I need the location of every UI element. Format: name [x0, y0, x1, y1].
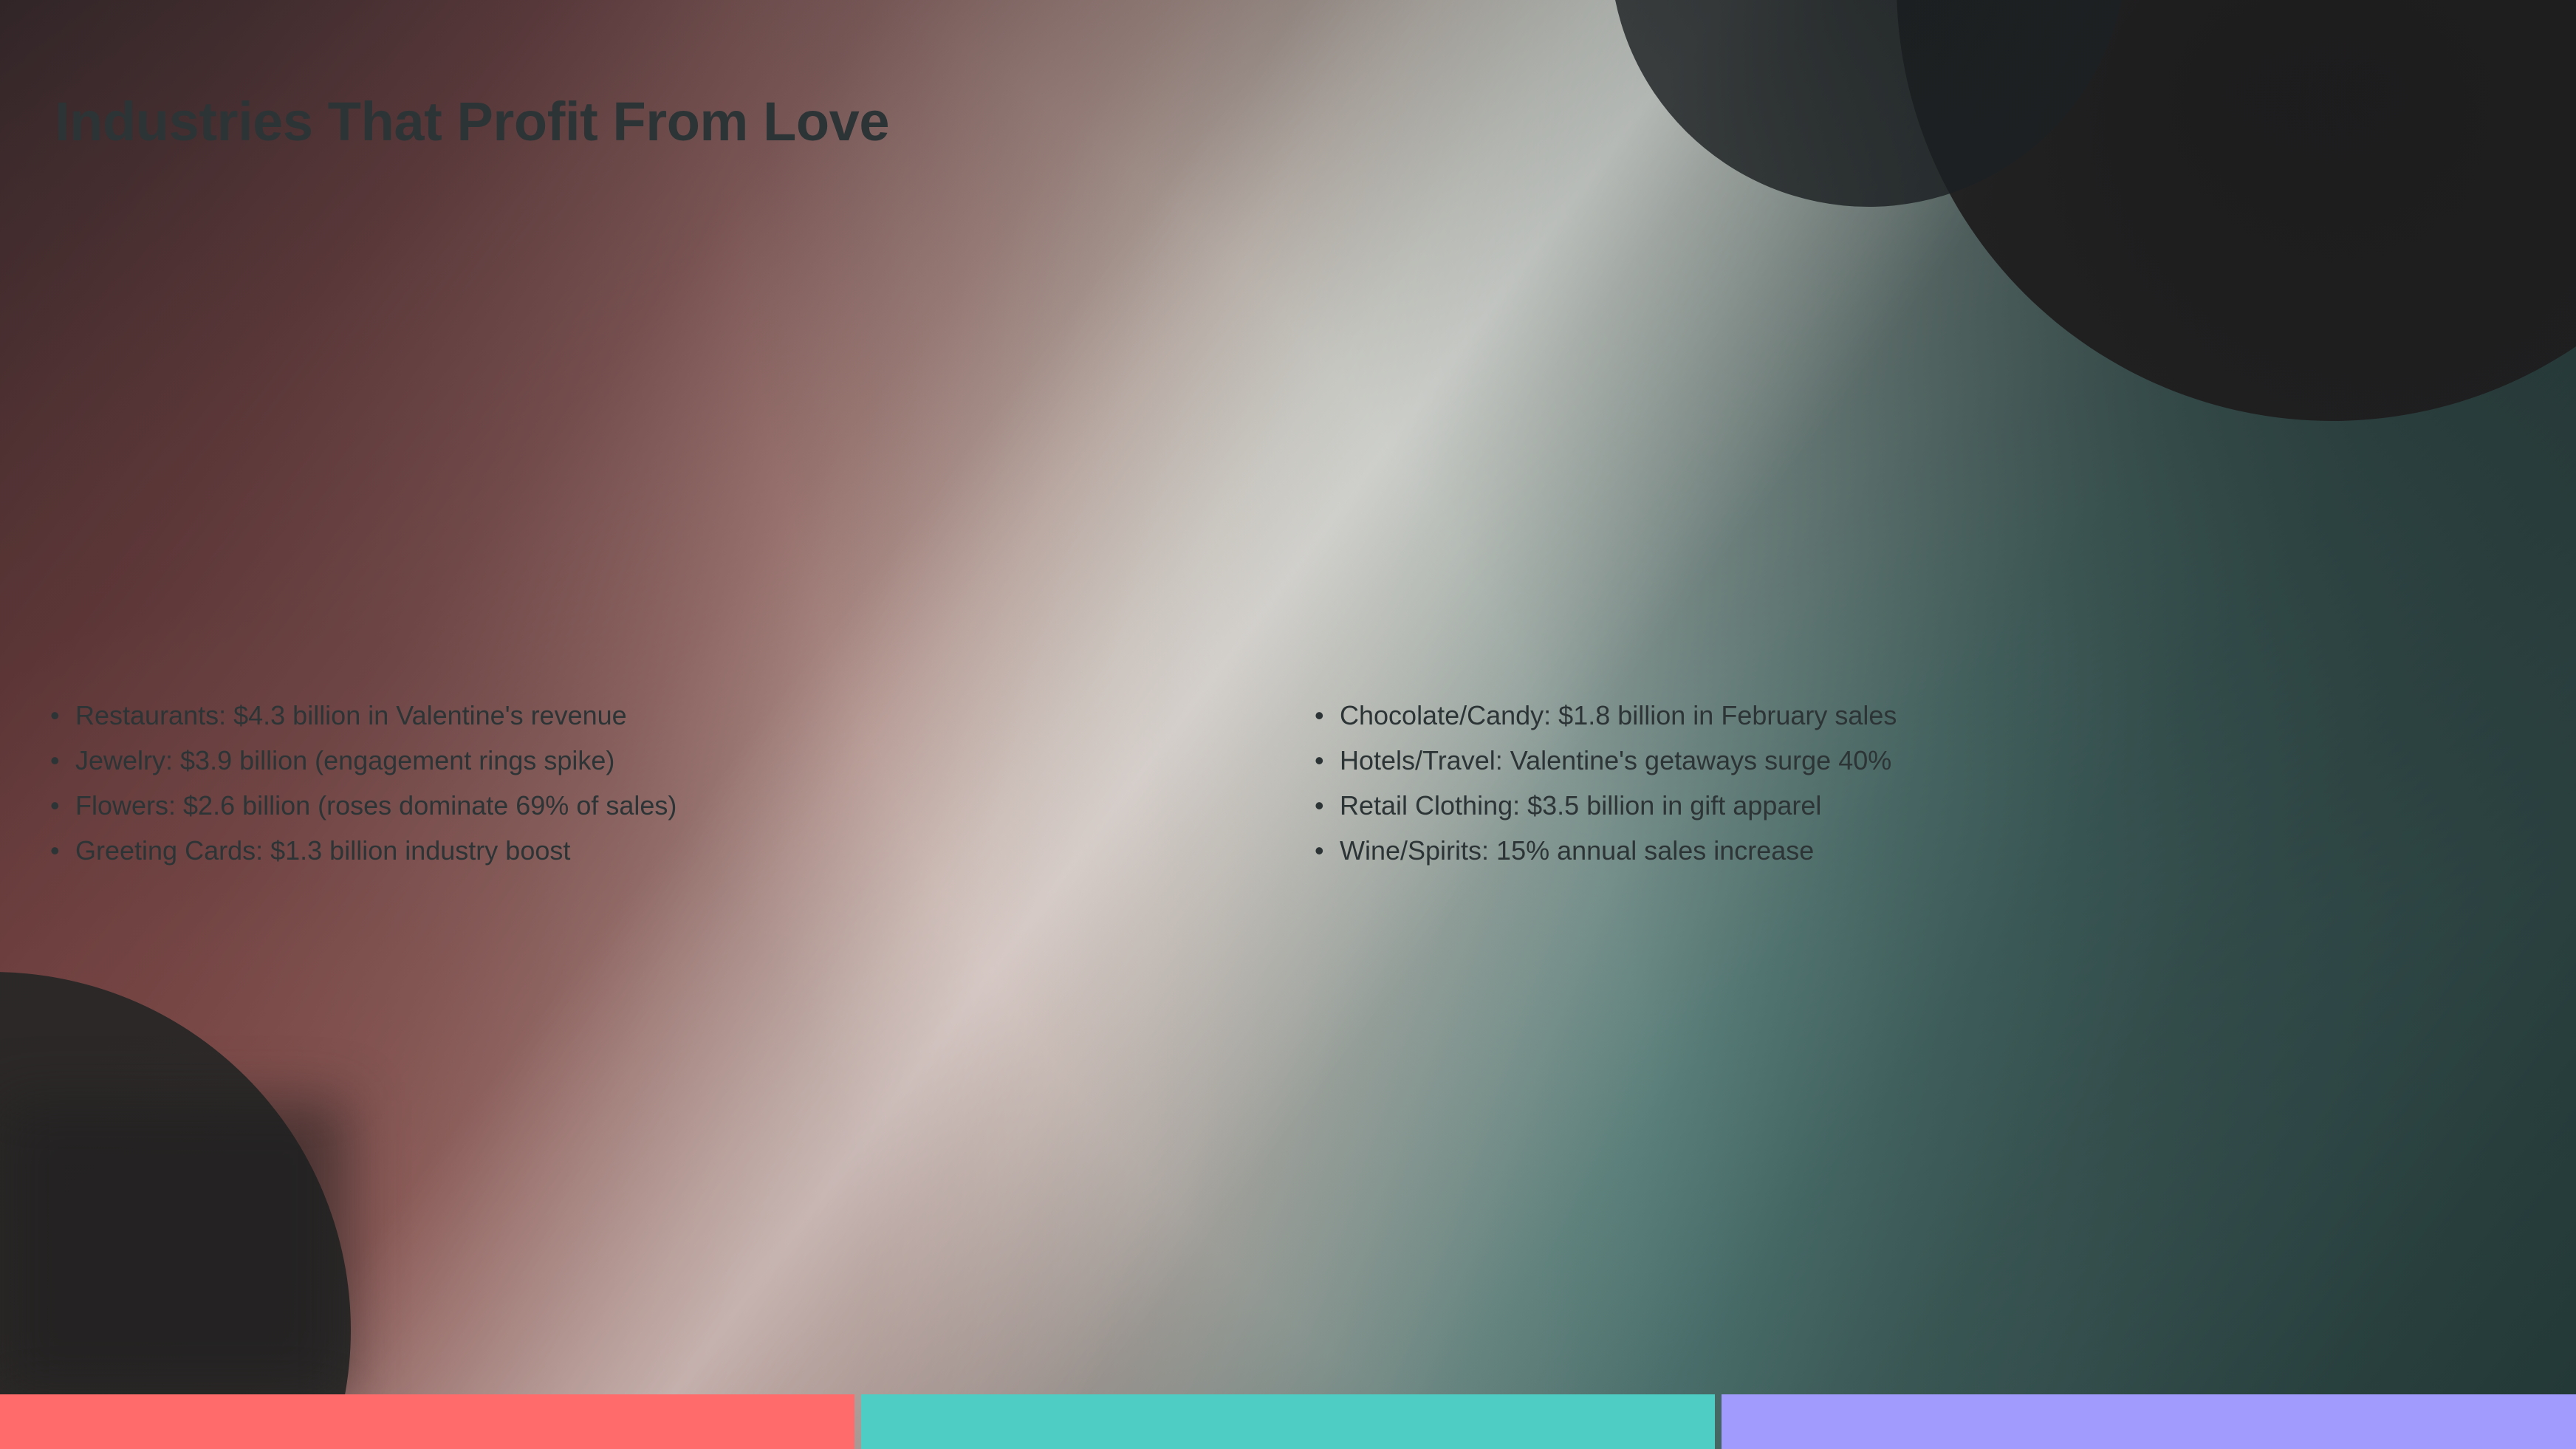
list-item: •Hotels/Travel: Valentine's getaways sur…	[1315, 738, 2496, 783]
accent-bar-purple	[1722, 1394, 2576, 1449]
list-item: •Wine/Spirits: 15% annual sales increase	[1315, 828, 2496, 873]
list-item: •Jewelry: $3.9 billion (engagement rings…	[50, 738, 1232, 783]
bullet-point-icon: •	[1315, 783, 1340, 828]
list-item: •Restaurants: $4.3 billion in Valentine'…	[50, 693, 1232, 738]
bullet-list-right: •Chocolate/Candy: $1.8 billion in Februa…	[1315, 693, 2496, 873]
list-item-label: Jewelry: $3.9 billion (engagement rings …	[75, 745, 614, 775]
bullet-column-left: •Restaurants: $4.3 billion in Valentine'…	[50, 693, 1232, 873]
list-item-label: Wine/Spirits: 15% annual sales increase	[1340, 835, 1814, 866]
list-item-label: Restaurants: $4.3 billion in Valentine's…	[75, 700, 627, 730]
bullet-point-icon: •	[1315, 828, 1340, 873]
bullet-point-icon: •	[50, 783, 75, 828]
bullet-column-right: •Chocolate/Candy: $1.8 billion in Februa…	[1315, 693, 2496, 873]
bullet-point-icon: •	[1315, 738, 1340, 783]
accent-bar-teal	[861, 1394, 1716, 1449]
bullet-point-icon: •	[1315, 693, 1340, 738]
list-item-label: Retail Clothing: $3.5 billion in gift ap…	[1340, 790, 1821, 821]
bullet-point-icon: •	[50, 828, 75, 873]
bullet-point-icon: •	[50, 693, 75, 738]
list-item: •Greeting Cards: $1.3 billion industry b…	[50, 828, 1232, 873]
slide-content: Industries That Profit From Love •Restau…	[0, 0, 2576, 1449]
page-title: Industries That Profit From Love	[55, 90, 889, 153]
bullet-list-left: •Restaurants: $4.3 billion in Valentine'…	[50, 693, 1232, 873]
list-item-label: Chocolate/Candy: $1.8 billion in Februar…	[1340, 700, 1897, 730]
list-item: •Chocolate/Candy: $1.8 billion in Februa…	[1315, 693, 2496, 738]
accent-bar-strip	[0, 1394, 2576, 1449]
list-item-label: Greeting Cards: $1.3 billion industry bo…	[75, 835, 570, 866]
list-item-label: Flowers: $2.6 billion (roses dominate 69…	[75, 790, 676, 821]
list-item-label: Hotels/Travel: Valentine's getaways surg…	[1340, 745, 1891, 775]
list-item: •Retail Clothing: $3.5 billion in gift a…	[1315, 783, 2496, 828]
slide-canvas: Industries That Profit From Love •Restau…	[0, 0, 2576, 1449]
list-item: •Flowers: $2.6 billion (roses dominate 6…	[50, 783, 1232, 828]
bullet-point-icon: •	[50, 738, 75, 783]
accent-bar-coral	[0, 1394, 854, 1449]
